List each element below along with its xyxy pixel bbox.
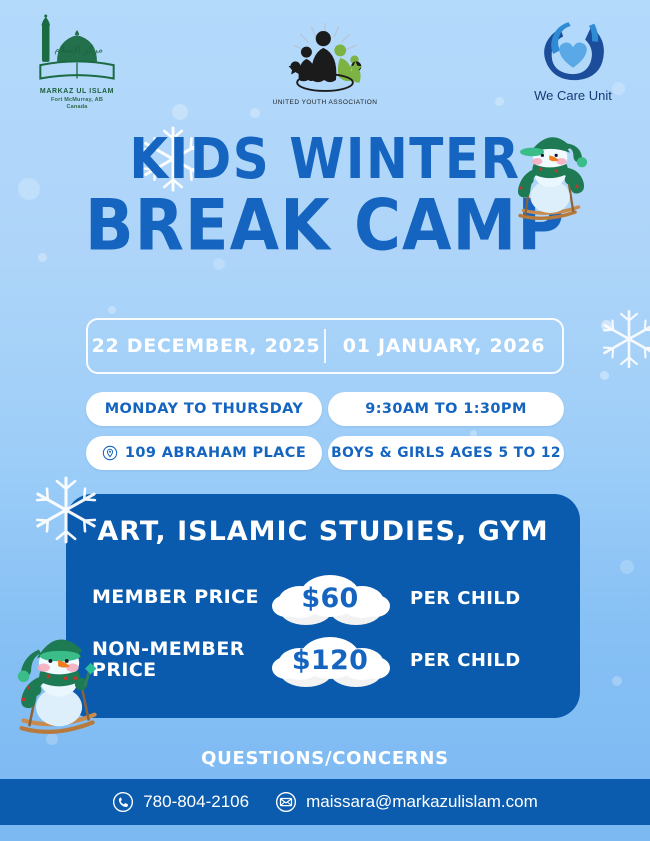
pill-location-label: 109 ABRAHAM PLACE xyxy=(125,445,306,461)
logo-caption-markaz: Fort McMurray, AB Canada xyxy=(51,97,103,112)
nonmember-price-cloud: $120 xyxy=(264,632,396,688)
pill-location: 109 ABRAHAM PLACE xyxy=(86,436,322,470)
program-activities: ART, ISLAMIC STUDIES, GYM xyxy=(66,516,580,547)
member-price-label: MEMBER PRICE xyxy=(92,587,260,608)
price-row-nonmember: NON-MEMBER PRICE xyxy=(92,629,554,691)
contact-phone[interactable]: 780-804-2106 xyxy=(112,791,249,813)
partner-logos: مركز الإسلام MARKAZ UL ISLAM Fort McMurr… xyxy=(0,14,650,122)
pill-ages: BOYS & GIRLS AGES 5 TO 12 xyxy=(328,436,564,470)
program-pricing-panel: ART, ISLAMIC STUDIES, GYM MEMBER PRICE xyxy=(66,494,580,718)
member-price-cloud: $60 xyxy=(264,570,396,626)
member-price-unit: PER CHILD xyxy=(410,588,521,609)
youth-group-icon xyxy=(273,20,377,96)
phone-icon xyxy=(112,791,134,813)
member-price-amount: $60 xyxy=(301,583,358,614)
pill-days: MONDAY TO THURSDAY xyxy=(86,392,322,426)
bokeh-dot xyxy=(108,306,116,314)
camp-details: MONDAY TO THURSDAY 9:30AM TO 1:30PM 109 … xyxy=(86,392,564,470)
camp-end-date: 01 JANUARY, 2026 xyxy=(326,335,562,357)
contact-phone-number: 780-804-2106 xyxy=(143,792,249,812)
hand-heart-icon xyxy=(535,16,611,86)
nonmember-price-label: NON-MEMBER PRICE xyxy=(92,639,260,682)
nonmember-price-unit: PER CHILD xyxy=(410,650,521,671)
camp-date-range: 22 DECEMBER, 2025 01 JANUARY, 2026 xyxy=(86,318,564,374)
logo-united-youth-association: UNITED YOUTH ASSOCIATION xyxy=(265,20,385,106)
title-line-one: KIDS WINTER xyxy=(0,132,650,187)
bokeh-dot xyxy=(600,371,609,380)
snowflake-icon xyxy=(596,306,650,372)
logo-markaz-ul-islam: مركز الإسلام MARKAZ UL ISLAM Fort McMurr… xyxy=(22,14,132,112)
flyer-canvas: مركز الإسلام MARKAZ UL ISLAM Fort McMurr… xyxy=(0,0,650,841)
price-row-member: MEMBER PRICE xyxy=(92,567,554,629)
pill-days-label: MONDAY TO THURSDAY xyxy=(105,401,304,417)
contact-footer: 780-804-2106 maissara@markazulislam.com xyxy=(0,779,650,825)
pill-time: 9:30AM TO 1:30PM xyxy=(328,392,564,426)
logo-we-care-unit: We Care Unit xyxy=(518,16,628,103)
logo-caption-wcu: We Care Unit xyxy=(534,88,612,103)
logo-wordmark-markaz: MARKAZ UL ISLAM xyxy=(40,88,114,95)
contact-email-address: maissara@markazulislam.com xyxy=(306,792,538,812)
flyer-title: KIDS WINTER BREAK CAMP xyxy=(0,132,650,255)
mosque-icon: مركز الإسلام xyxy=(27,14,127,88)
bokeh-dot xyxy=(620,560,634,574)
location-pin-icon xyxy=(102,445,118,461)
price-list: MEMBER PRICE xyxy=(66,567,580,691)
nonmember-price-amount: $120 xyxy=(292,645,368,676)
pill-time-label: 9:30AM TO 1:30PM xyxy=(365,401,527,417)
svg-text:مركز الإسلام: مركز الإسلام xyxy=(54,45,103,56)
questions-heading: QUESTIONS/CONCERNS xyxy=(0,748,650,769)
bokeh-dot xyxy=(601,320,612,331)
bokeh-dot xyxy=(46,733,58,745)
title-line-two: BREAK CAMP xyxy=(0,191,650,261)
bokeh-dot xyxy=(612,676,622,686)
contact-email[interactable]: maissara@markazulislam.com xyxy=(275,791,538,813)
envelope-icon xyxy=(275,791,297,813)
camp-start-date: 22 DECEMBER, 2025 xyxy=(88,335,324,357)
logo-caption-uya: UNITED YOUTH ASSOCIATION xyxy=(273,99,378,106)
pill-ages-label: BOYS & GIRLS AGES 5 TO 12 xyxy=(331,445,561,461)
